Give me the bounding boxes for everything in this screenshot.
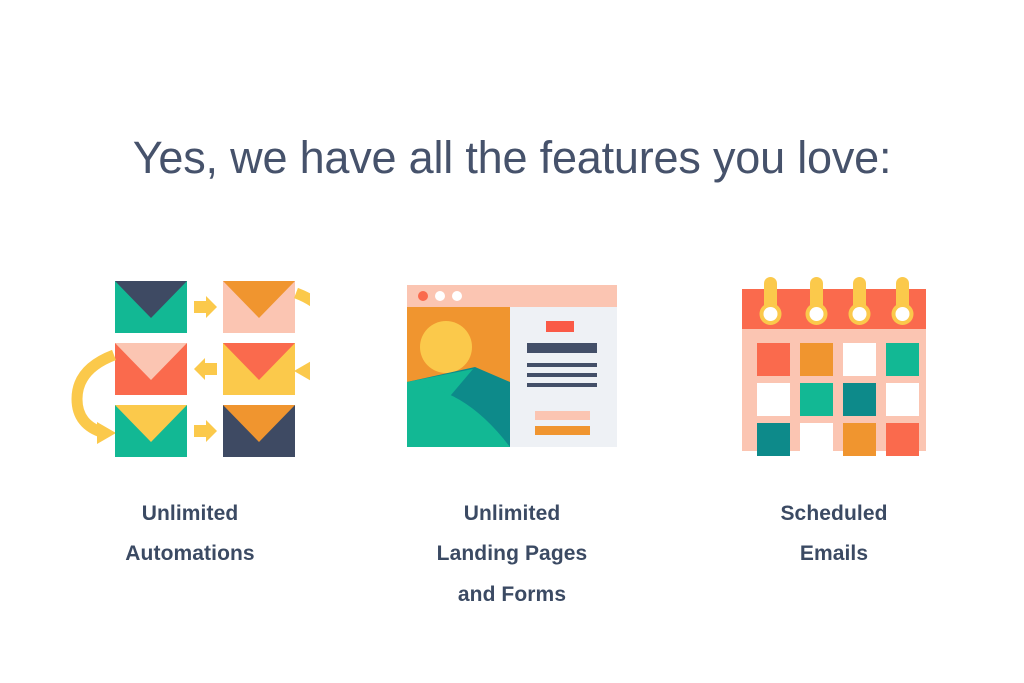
automations-icon-container — [70, 271, 310, 461]
envelope-5 — [115, 405, 187, 457]
calendar-cell[interactable] — [886, 423, 919, 456]
hero-image-panel — [407, 307, 510, 447]
page-title: Yes, we have all the features you love: — [133, 132, 892, 184]
browser-dot-close-icon — [418, 291, 428, 301]
calendar-cell[interactable] — [800, 383, 833, 416]
label-line: Unlimited — [437, 494, 588, 534]
feature-label-unlimited-landing-pages: Unlimited Landing Pages and Forms — [437, 494, 588, 615]
sun-icon — [420, 321, 472, 373]
browser-landing-page-icon — [405, 277, 619, 455]
envelope-4 — [223, 343, 295, 395]
calendar-icon-container — [738, 271, 930, 461]
curved-arrow-left — [77, 355, 116, 444]
calendar-cell[interactable] — [757, 343, 790, 376]
content-badge — [546, 321, 574, 332]
feature-section: Yes, we have all the features you love: — [0, 0, 1024, 683]
content-panel — [510, 307, 617, 447]
calendar-cell[interactable] — [843, 343, 876, 376]
landing-page-icon-container — [405, 271, 619, 461]
automations-envelopes-icon — [70, 271, 310, 461]
label-line: Scheduled — [780, 494, 887, 534]
feature-label-unlimited-automations: Unlimited Automations — [125, 494, 254, 575]
content-heading-bar — [527, 343, 597, 353]
envelope-1 — [115, 281, 187, 333]
envelope-3 — [115, 343, 187, 395]
calendar-icon — [738, 271, 930, 461]
browser-dot-maximize-icon — [452, 291, 462, 301]
feature-label-scheduled-emails: Scheduled Emails — [780, 494, 887, 575]
label-line: Automations — [125, 534, 254, 574]
label-line: Unlimited — [125, 494, 254, 534]
label-line: and Forms — [437, 575, 588, 615]
browser-dot-minimize-icon — [435, 291, 445, 301]
calendar-cell[interactable] — [757, 423, 790, 456]
calendar-cell[interactable] — [886, 343, 919, 376]
label-line: Landing Pages — [437, 534, 588, 574]
content-text-line — [527, 373, 597, 377]
arrow-right-row3 — [194, 420, 217, 442]
content-button-primary[interactable] — [535, 426, 590, 435]
feature-item-unlimited-automations: Unlimited Automations — [29, 271, 351, 575]
content-button-secondary[interactable] — [535, 411, 590, 420]
calendar-cell[interactable] — [800, 343, 833, 376]
content-text-line — [527, 363, 597, 367]
envelope-6 — [223, 405, 295, 457]
calendar-cell[interactable] — [757, 383, 790, 416]
feature-item-scheduled-emails: Scheduled Emails — [673, 271, 995, 575]
calendar-cell[interactable] — [800, 423, 833, 456]
calendar-cell[interactable] — [886, 383, 919, 416]
curved-arrow-right — [294, 293, 310, 382]
label-line: Emails — [780, 534, 887, 574]
feature-list: Unlimited Automations — [0, 271, 1024, 615]
arrow-left-row2 — [194, 358, 217, 380]
calendar-cell[interactable] — [843, 383, 876, 416]
arrow-right-row1 — [194, 296, 217, 318]
feature-item-unlimited-landing-pages: Unlimited Landing Pages and Forms — [351, 271, 673, 615]
content-text-line — [527, 383, 597, 387]
calendar-cell[interactable] — [843, 423, 876, 456]
envelope-2 — [223, 281, 295, 333]
